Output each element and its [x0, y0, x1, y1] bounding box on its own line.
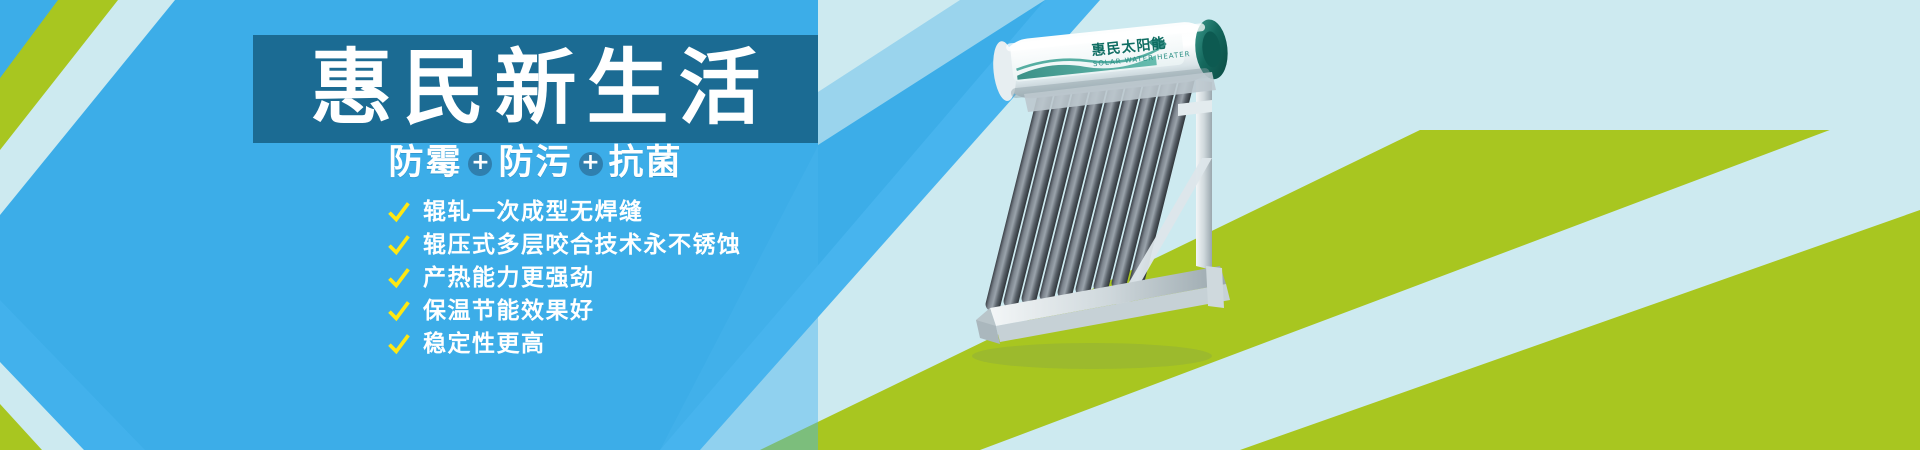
- check-icon: [388, 202, 410, 224]
- banner-title: 惠民新生活: [300, 48, 770, 130]
- banner-title-box: 惠民新生活: [253, 35, 818, 143]
- feature-item: 辊压式多层咬合技术永不锈蚀: [388, 229, 742, 262]
- promo-banner: 惠民新生活 防霉 + 防污 + 抗菌 辊轧一次成型无焊缝 辊压式多层咬合技术永不…: [0, 0, 1920, 450]
- subtitle-word-3: 抗菌: [609, 146, 683, 181]
- check-icon: [388, 235, 410, 257]
- feature-label: 保温节能效果好: [423, 300, 595, 323]
- product-image-solar-water-heater: [950, 8, 1280, 378]
- banner-subtitle: 防霉 + 防污 + 抗菌: [253, 146, 818, 181]
- feature-label: 辊轧一次成型无焊缝: [423, 201, 644, 224]
- check-icon: [388, 301, 410, 323]
- subtitle-word-2: 防污: [498, 146, 572, 181]
- check-icon: [388, 334, 410, 356]
- feature-item: 稳定性更高: [388, 328, 742, 361]
- feature-label: 产热能力更强劲: [423, 267, 595, 290]
- check-icon: [388, 268, 410, 290]
- feature-item: 辊轧一次成型无焊缝: [388, 196, 742, 229]
- feature-label: 稳定性更高: [423, 333, 546, 356]
- plus-icon-1: +: [468, 152, 492, 176]
- feature-item: 保温节能效果好: [388, 295, 742, 328]
- feature-label: 辊压式多层咬合技术永不锈蚀: [423, 234, 742, 257]
- feature-item: 产热能力更强劲: [388, 262, 742, 295]
- feature-list: 辊轧一次成型无焊缝 辊压式多层咬合技术永不锈蚀 产热能力更强劲 保温节能效果好 …: [388, 196, 742, 361]
- subtitle-word-1: 防霉: [388, 146, 462, 181]
- plus-icon-2: +: [579, 152, 603, 176]
